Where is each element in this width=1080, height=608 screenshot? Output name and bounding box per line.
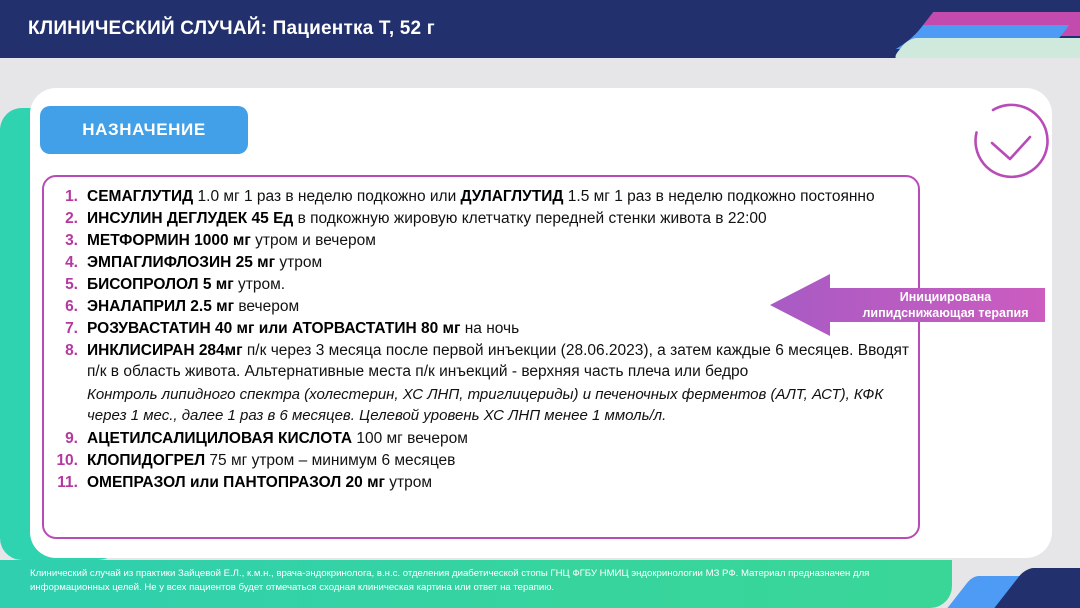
dosage-text: утром. xyxy=(238,276,285,293)
slide-root: КЛИНИЧЕСКИЙ СЛУЧАЙ: Пациентка Т, 52 г НА… xyxy=(0,0,1080,608)
list-item-text: СЕМАГЛУТИД 1.0 мг 1 раз в неделю подкожн… xyxy=(87,186,924,207)
dosage-text: 100 мг вечером xyxy=(356,430,468,447)
header-band-mint xyxy=(891,38,1080,58)
list-item-text: ЭМПАГЛИФЛОЗИН 25 мг утром xyxy=(87,252,924,273)
callout-line-1: Инициирована xyxy=(900,289,992,305)
dosage-text: утром xyxy=(279,254,322,271)
check-circle-icon xyxy=(967,101,1053,187)
list-item-number: 2. xyxy=(44,208,87,229)
list-item-text: ИНСУЛИН ДЕГЛУДЕК 45 Ед в подкожную жиров… xyxy=(87,208,924,229)
drug-name: ИНКЛИСИРАН 284мг xyxy=(87,342,247,359)
list-item-text: ОМЕПРАЗОЛ или ПАНТОПРАЗОЛ 20 мг утром xyxy=(87,472,924,493)
dosage-text: 1.0 мг 1 раз в неделю подкожно или xyxy=(198,188,461,205)
dosage-text: 75 мг утром – минимум 6 месяцев xyxy=(209,452,455,469)
list-item: 2.ИНСУЛИН ДЕГЛУДЕК 45 Ед в подкожную жир… xyxy=(44,208,924,229)
list-item-text: МЕТФОРМИН 1000 мг утром и вечером xyxy=(87,230,924,251)
drug-name: ИНСУЛИН ДЕГЛУДЕК 45 Ед xyxy=(87,210,298,227)
footer-disclaimer: Клинический случай из практики Зайцевой … xyxy=(30,567,930,595)
list-item-text: ИНКЛИСИРАН 284мг п/к через 3 месяца посл… xyxy=(87,340,924,382)
list-item: 11.ОМЕПРАЗОЛ или ПАНТОПРАЗОЛ 20 мг утром xyxy=(44,472,924,493)
dosage-text: в подкожную жировую клетчатку передней с… xyxy=(298,210,767,227)
list-item-number: 4. xyxy=(44,252,87,273)
list-item-number: 11. xyxy=(44,472,87,493)
page-title: КЛИНИЧЕСКИЙ СЛУЧАЙ: Пациентка Т, 52 г xyxy=(28,0,435,58)
drug-name: ОМЕПРАЗОЛ или ПАНТОПРАЗОЛ 20 мг xyxy=(87,474,389,491)
drug-name: БИСОПРОЛОЛ 5 мг xyxy=(87,276,238,293)
drug-name: ДУЛАГЛУТИД xyxy=(461,188,568,205)
list-item-number: 1. xyxy=(44,186,87,207)
list-item-number: 10. xyxy=(44,450,87,471)
list-item-number: 9. xyxy=(44,428,87,449)
section-badge-label: НАЗНАЧЕНИЕ xyxy=(82,120,206,140)
dosage-text: вечером xyxy=(238,298,299,315)
drug-name: ЭМПАГЛИФЛОЗИН 25 мг xyxy=(87,254,279,271)
slide-header: КЛИНИЧЕСКИЙ СЛУЧАЙ: Пациентка Т, 52 г xyxy=(0,0,1080,58)
list-item-number: 7. xyxy=(44,318,87,339)
list-item-number: 3. xyxy=(44,230,87,251)
callout-text: Инициирована липидснижающая терапия xyxy=(846,274,1045,336)
drug-name: СЕМАГЛУТИД xyxy=(87,188,198,205)
list-item: 10.КЛОПИДОГРЕЛ 75 мг утром – минимум 6 м… xyxy=(44,450,924,471)
list-item-number: 5. xyxy=(44,274,87,295)
list-item: 9.АЦЕТИЛСАЛИЦИЛОВАЯ КИСЛОТА 100 мг вечер… xyxy=(44,428,924,449)
dosage-text: утром xyxy=(389,474,432,491)
list-item-number: 8. xyxy=(44,340,87,361)
list-item-text: АЦЕТИЛСАЛИЦИЛОВАЯ КИСЛОТА 100 мг вечером xyxy=(87,428,924,449)
drug-name: МЕТФОРМИН 1000 мг xyxy=(87,232,255,249)
list-item: 1.СЕМАГЛУТИД 1.0 мг 1 раз в неделю подко… xyxy=(44,186,924,207)
callout-line-2: липидснижающая терапия xyxy=(862,305,1028,321)
drug-name: РОЗУВАСТАТИН 40 мг или АТОРВАСТАТИН 80 м… xyxy=(87,320,465,337)
dosage-text: 1.5 мг 1 раз в неделю подкожно постоянно xyxy=(568,188,875,205)
drug-name: КЛОПИДОГРЕЛ xyxy=(87,452,209,469)
list-item-number: 6. xyxy=(44,296,87,317)
drug-name: ЭНАЛАПРИЛ 2.5 мг xyxy=(87,298,238,315)
section-badge: НАЗНАЧЕНИЕ xyxy=(40,106,248,154)
list-item: 8.ИНКЛИСИРАН 284мг п/к через 3 месяца по… xyxy=(44,340,924,382)
list-item-note: Контроль липидного спектра (холестерин, … xyxy=(87,384,923,426)
callout-arrow: Инициирована липидснижающая терапия xyxy=(770,274,1045,336)
slide-footer: Клинический случай из практики Зайцевой … xyxy=(0,560,1080,608)
list-item: 3.МЕТФОРМИН 1000 мг утром и вечером xyxy=(44,230,924,251)
list-item-text: КЛОПИДОГРЕЛ 75 мг утром – минимум 6 меся… xyxy=(87,450,924,471)
list-item: 4.ЭМПАГЛИФЛОЗИН 25 мг утром xyxy=(44,252,924,273)
dosage-text: утром и вечером xyxy=(255,232,376,249)
drug-name: АЦЕТИЛСАЛИЦИЛОВАЯ КИСЛОТА xyxy=(87,430,356,447)
dosage-text: на ночь xyxy=(465,320,519,337)
